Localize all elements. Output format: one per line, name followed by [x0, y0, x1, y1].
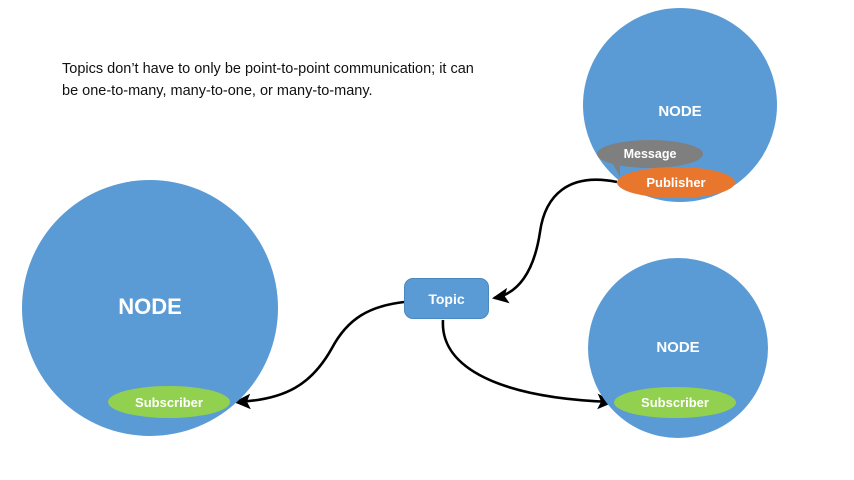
node-top-right-message[interactable]: Message	[597, 140, 703, 168]
node-top-right-label: NODE	[583, 103, 777, 120]
topic-box[interactable]: Topic	[404, 278, 489, 319]
node-bottom-right-label: NODE	[588, 339, 768, 356]
node-left-label: NODE	[22, 294, 278, 320]
node-bottom-right-subscriber[interactable]: Subscriber	[614, 387, 736, 418]
connector-topic-to-bottom-right-subscriber	[443, 320, 612, 402]
node-top-right-publisher[interactable]: Publisher	[617, 167, 735, 198]
caption-text: Topics don’t have to only be point-to-po…	[62, 58, 482, 103]
node-left-subscriber[interactable]: Subscriber	[108, 386, 230, 418]
connector-publisher-to-topic	[494, 180, 617, 298]
